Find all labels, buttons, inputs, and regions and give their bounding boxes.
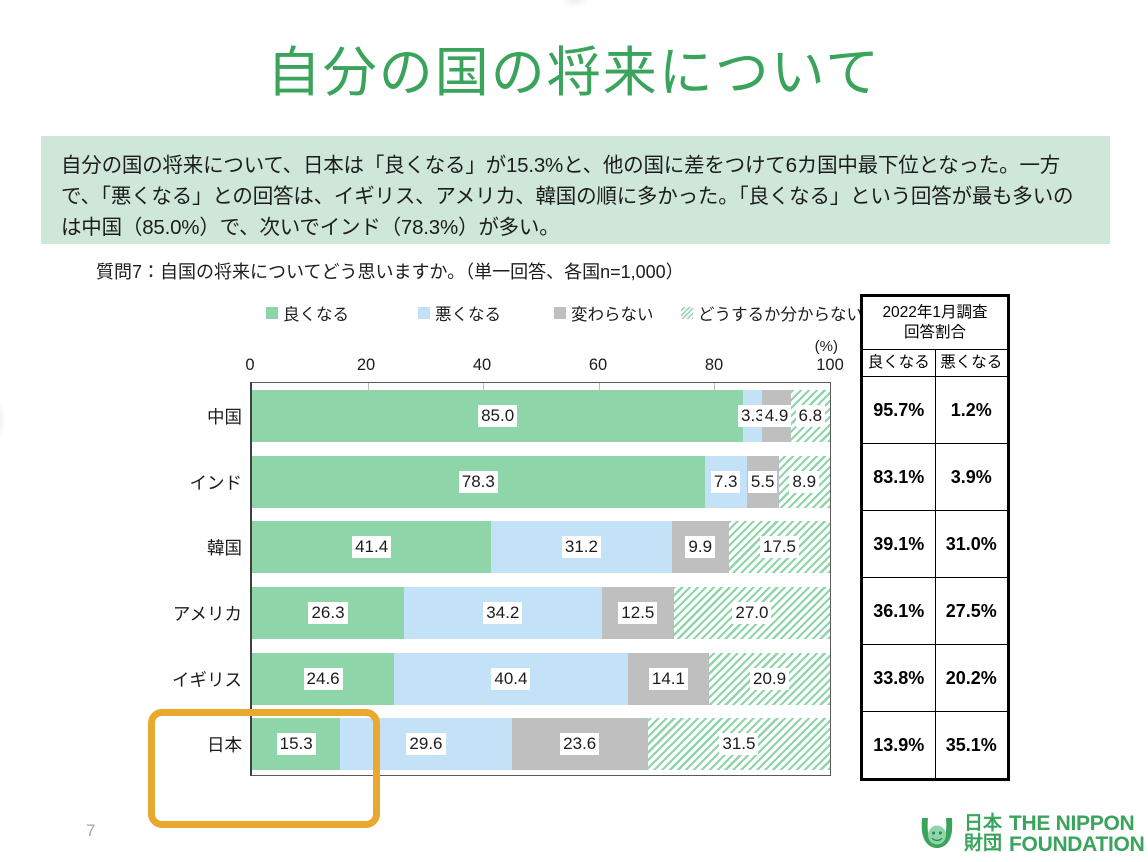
page-number: 7 bbox=[86, 821, 95, 841]
category-label-韓国: 韓国 bbox=[152, 535, 242, 560]
bar-value-label: 27.0 bbox=[732, 602, 771, 624]
bar-value-label: 41.4 bbox=[352, 536, 391, 558]
bar-value-label: 29.6 bbox=[406, 733, 445, 755]
summary-callout: 自分の国の将来について、日本は「良くなる」が15.3%と、他の国に差をつけて6カ… bbox=[41, 136, 1110, 244]
page-title: 自分の国の将来について bbox=[0, 42, 1148, 104]
legend-item-2: 悪くなる bbox=[418, 301, 501, 325]
bar-value-label: 8.9 bbox=[789, 471, 819, 493]
table-col-good: 良くなる bbox=[863, 350, 936, 377]
bar-segment: 29.6 bbox=[340, 718, 511, 770]
table-cell-good: 13.9% bbox=[863, 712, 936, 779]
bar-segment: 31.5 bbox=[648, 718, 830, 770]
table-cell-bad: 3.9% bbox=[935, 444, 1008, 511]
bar-value-label: 20.9 bbox=[750, 668, 789, 690]
bar-value-label: 5.5 bbox=[748, 471, 778, 493]
bar-value-label: 85.0 bbox=[478, 405, 517, 427]
bar-row: 26.334.212.527.0 bbox=[252, 587, 830, 639]
stacked-bar-chart: (%) 020406080100 85.03.34.96.878.37.35.5… bbox=[152, 338, 838, 798]
bar-value-label: 4.9 bbox=[762, 405, 792, 427]
bar-segment: 27.0 bbox=[674, 587, 830, 639]
bar-value-label: 31.2 bbox=[562, 536, 601, 558]
logo-jp-line2: 財団 bbox=[964, 834, 1002, 854]
table-cell-bad: 35.1% bbox=[935, 712, 1008, 779]
logo-face-icon bbox=[916, 814, 958, 854]
bar-value-label: 12.5 bbox=[618, 602, 657, 624]
x-tick-0: 0 bbox=[245, 356, 254, 375]
legend-item-4: どうするか分からない bbox=[681, 301, 863, 325]
category-label-イギリス: イギリス bbox=[152, 667, 242, 692]
table-row: 39.1%31.0% bbox=[863, 511, 1008, 578]
bar-value-label: 9.9 bbox=[685, 536, 715, 558]
table-cell-good: 39.1% bbox=[863, 511, 936, 578]
bar-segment: 24.6 bbox=[252, 653, 394, 705]
logo-english-text: THE NIPPON FOUNDATION bbox=[1009, 813, 1144, 855]
table-cell-good: 83.1% bbox=[863, 444, 936, 511]
x-tick-60: 60 bbox=[589, 356, 607, 375]
bar-value-label: 26.3 bbox=[308, 602, 347, 624]
x-tick-20: 20 bbox=[357, 356, 375, 375]
table-cell-good: 95.7% bbox=[863, 377, 936, 444]
bar-segment: 34.2 bbox=[404, 587, 602, 639]
table-cell-bad: 20.2% bbox=[935, 645, 1008, 712]
table-body: 95.7%1.2%83.1%3.9%39.1%31.0%36.1%27.5%33… bbox=[863, 377, 1008, 779]
bar-segment: 40.4 bbox=[394, 653, 628, 705]
bar-segment: 3.3 bbox=[743, 390, 762, 442]
bar-value-label: 6.8 bbox=[796, 405, 826, 427]
bar-value-label: 23.6 bbox=[560, 733, 599, 755]
legend-label: どうするか分からない bbox=[698, 301, 863, 325]
bar-row: 78.37.35.58.9 bbox=[252, 456, 830, 508]
table-title-line1: 2022年1月調査 bbox=[882, 304, 987, 321]
slide-canvas: 自分の国の将来について 自分の国の将来について、日本は「良くなる」が15.3%と… bbox=[0, 0, 1148, 862]
table-cell-good: 33.8% bbox=[863, 645, 936, 712]
previous-survey-table-grid: 2022年1月調査 回答割合 良くなる 悪くなる 95.7%1.2%83.1%3… bbox=[862, 296, 1008, 779]
table-row: 95.7%1.2% bbox=[863, 377, 1008, 444]
plot-area: 85.03.34.96.878.37.35.58.941.431.29.917.… bbox=[250, 382, 831, 776]
table-cell-bad: 27.5% bbox=[935, 578, 1008, 645]
bar-value-label: 7.3 bbox=[711, 471, 741, 493]
table-title-line2: 回答割合 bbox=[904, 324, 966, 341]
bar-row: 15.329.623.631.5 bbox=[252, 718, 830, 770]
left-shadow-artifact bbox=[0, 400, 6, 440]
table-row: 36.1%27.5% bbox=[863, 578, 1008, 645]
legend-swatch-icon bbox=[418, 307, 430, 319]
bar-segment: 41.4 bbox=[252, 521, 491, 573]
legend-label: 悪くなる bbox=[435, 301, 501, 325]
bar-segment: 85.0 bbox=[252, 390, 743, 442]
bar-segment: 20.9 bbox=[709, 653, 830, 705]
x-tick-80: 80 bbox=[705, 356, 723, 375]
category-label-中国: 中国 bbox=[152, 404, 242, 429]
table-row: 83.1%3.9% bbox=[863, 444, 1008, 511]
previous-survey-table: 2022年1月調査 回答割合 良くなる 悪くなる 95.7%1.2%83.1%3… bbox=[860, 294, 1010, 781]
bar-row: 24.640.414.120.9 bbox=[252, 653, 830, 705]
bar-segment: 4.9 bbox=[762, 390, 790, 442]
bar-segment: 17.5 bbox=[729, 521, 830, 573]
legend-item-3: 変わらない bbox=[554, 301, 654, 325]
table-cell-bad: 31.0% bbox=[935, 511, 1008, 578]
bar-segment: 26.3 bbox=[252, 587, 404, 639]
bar-segment: 31.2 bbox=[491, 521, 671, 573]
logo-en-line2: FOUNDATION bbox=[1009, 834, 1144, 855]
question-label: 質問7：自国の将来についてどう思いますか。（単一回答、各国n=1,000） bbox=[96, 260, 684, 284]
table-title-row: 2022年1月調査 回答割合 bbox=[863, 297, 1008, 350]
legend-swatch-icon bbox=[266, 307, 278, 319]
logo-jp-line1: 日本 bbox=[964, 813, 1002, 834]
legend-label: 良くなる bbox=[283, 301, 349, 325]
x-tick-40: 40 bbox=[473, 356, 491, 375]
bar-segment: 8.9 bbox=[779, 456, 830, 508]
table-col-bad: 悪くなる bbox=[935, 350, 1008, 377]
bar-segment: 5.5 bbox=[747, 456, 779, 508]
legend-item-1: 良くなる bbox=[266, 301, 349, 325]
table-title-cell: 2022年1月調査 回答割合 bbox=[863, 297, 1008, 350]
bar-segment: 12.5 bbox=[602, 587, 674, 639]
axis-unit-label: (%) bbox=[815, 338, 838, 355]
legend-swatch-icon bbox=[681, 307, 693, 319]
bar-row: 41.431.29.917.5 bbox=[252, 521, 830, 573]
bar-value-label: 17.5 bbox=[760, 536, 799, 558]
top-shadow-artifact bbox=[560, 0, 590, 8]
bar-value-label: 34.2 bbox=[483, 602, 522, 624]
bar-segment: 78.3 bbox=[252, 456, 705, 508]
bar-value-label: 14.1 bbox=[649, 668, 688, 690]
table-cell-bad: 1.2% bbox=[935, 377, 1008, 444]
table-row: 13.9%35.1% bbox=[863, 712, 1008, 779]
logo-en-line1: THE NIPPON bbox=[1009, 812, 1134, 835]
table-head: 2022年1月調査 回答割合 良くなる 悪くなる bbox=[863, 297, 1008, 377]
chart-legend: 良くなる悪くなる変わらないどうするか分からない bbox=[266, 301, 836, 325]
bar-segment: 15.3 bbox=[252, 718, 340, 770]
summary-text: 自分の国の将来について、日本は「良くなる」が15.3%と、他の国に差をつけて6カ… bbox=[61, 150, 1090, 243]
bar-segment: 7.3 bbox=[705, 456, 747, 508]
category-label-インド: インド bbox=[152, 470, 242, 495]
table-cell-good: 36.1% bbox=[863, 578, 936, 645]
bar-segment: 9.9 bbox=[672, 521, 729, 573]
category-label-アメリカ: アメリカ bbox=[152, 601, 242, 626]
table-row: 33.8%20.2% bbox=[863, 645, 1008, 712]
bar-value-label: 40.4 bbox=[491, 668, 530, 690]
bar-segment: 14.1 bbox=[628, 653, 709, 705]
table-column-header-row: 良くなる 悪くなる bbox=[863, 350, 1008, 377]
bar-value-label: 78.3 bbox=[459, 471, 498, 493]
bar-segment: 23.6 bbox=[512, 718, 648, 770]
x-tick-100: 100 bbox=[816, 356, 844, 375]
legend-swatch-icon bbox=[554, 307, 566, 319]
bar-value-label: 15.3 bbox=[277, 733, 316, 755]
x-axis-tick-labels: 020406080100 bbox=[250, 356, 830, 378]
bar-row: 85.03.34.96.8 bbox=[252, 390, 830, 442]
category-label-日本: 日本 bbox=[152, 732, 242, 757]
bar-segment: 6.8 bbox=[791, 390, 830, 442]
bar-value-label: 24.6 bbox=[304, 668, 343, 690]
bar-value-label: 31.5 bbox=[719, 733, 758, 755]
nippon-foundation-logo: 日本 財団 THE NIPPON FOUNDATION bbox=[916, 812, 1144, 856]
legend-label: 変わらない bbox=[571, 301, 654, 325]
logo-japanese-text: 日本 財団 bbox=[964, 814, 1002, 854]
